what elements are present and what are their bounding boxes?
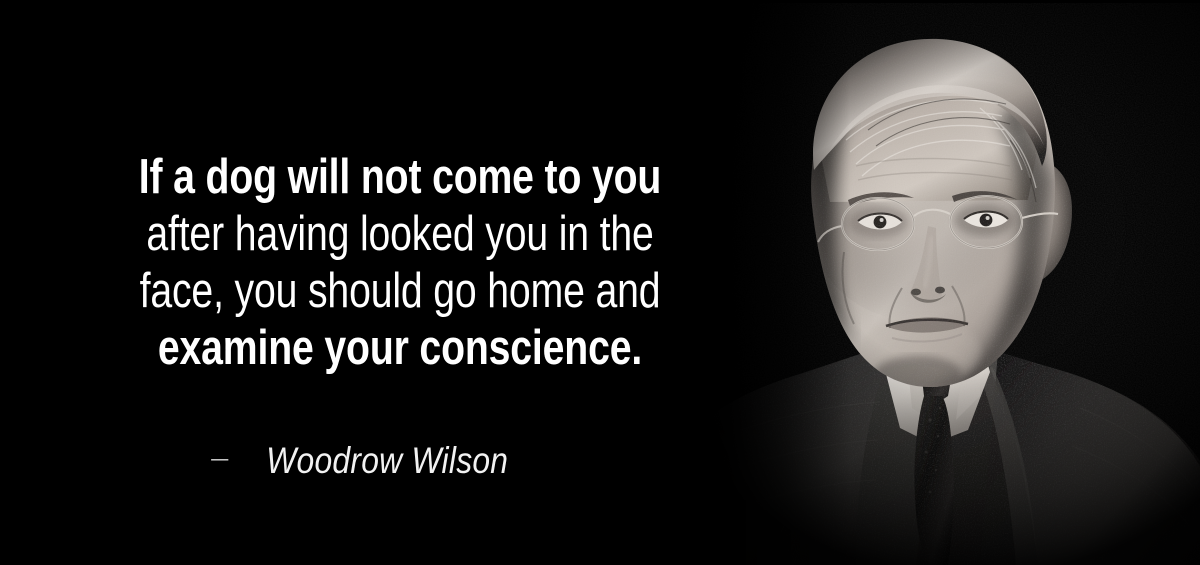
- attribution-dash: —: [211, 439, 228, 479]
- quote-line-2: after having looked you in the: [112, 206, 688, 263]
- quote-card: If a dog will not come to you after havi…: [0, 0, 1200, 565]
- quote-text: If a dog will not come to you after havi…: [40, 149, 760, 377]
- quote-line-3: face, you should go home and: [112, 263, 688, 320]
- quote-line-4: examine your conscience.: [112, 320, 688, 377]
- text-panel: If a dog will not come to you after havi…: [0, 0, 720, 565]
- attribution: —Woodrow Wilson: [0, 441, 720, 481]
- quote-line-1: If a dog will not come to you: [112, 149, 688, 206]
- attribution-inner: —Woodrow Wilson: [211, 441, 508, 481]
- attribution-author-name: Woodrow Wilson: [266, 441, 508, 481]
